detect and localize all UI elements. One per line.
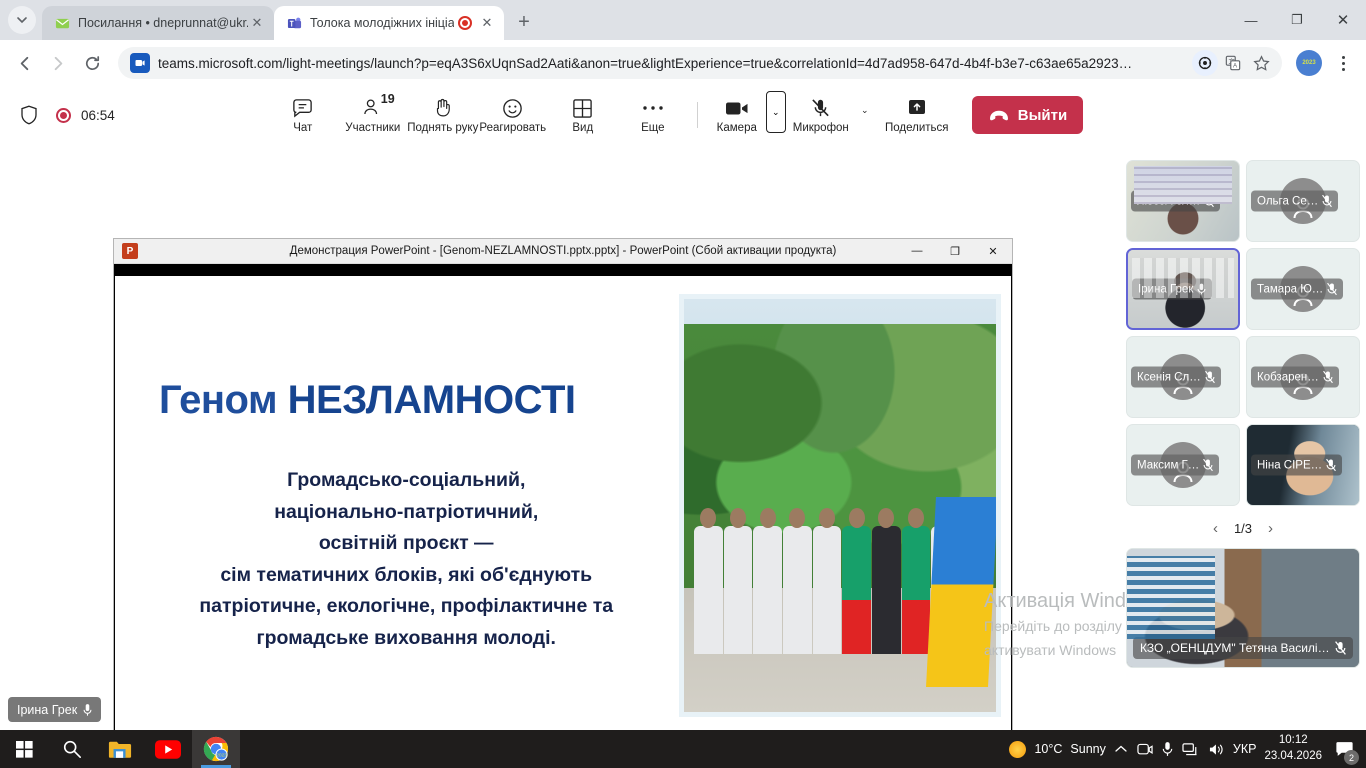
participant-tile[interactable]: Ксенія Сл… bbox=[1126, 336, 1240, 418]
self-name-label: Ірина Грек bbox=[17, 703, 77, 717]
windows-start-icon[interactable] bbox=[0, 730, 48, 768]
participant-name-badge: КЗО „ОЕНЦДУМ" Тетяна Василі… bbox=[1133, 637, 1353, 659]
new-tab-button[interactable]: + bbox=[510, 8, 538, 36]
toolbar-chat-button[interactable]: Чат bbox=[269, 89, 337, 141]
notification-icon[interactable]: 2 bbox=[1330, 734, 1358, 764]
leave-meeting-button[interactable]: Выйти bbox=[972, 96, 1083, 134]
toolbar-label: Чат bbox=[293, 122, 312, 134]
browser-tab-1[interactable]: Посилання • dneprunnat@ukr. ✕ bbox=[42, 6, 274, 40]
notification-count: 2 bbox=[1344, 750, 1359, 765]
toolbar-label: Камера bbox=[717, 122, 757, 134]
toolbar-reactions-button[interactable]: Реагировать bbox=[479, 89, 547, 141]
slide-body-line: Громадсько-соціальний, bbox=[159, 465, 653, 497]
page-indicator: 1/3 bbox=[1234, 521, 1252, 536]
participant-name-badge: Ксенія Сл… bbox=[1131, 367, 1221, 388]
tray-icons bbox=[1114, 741, 1225, 757]
participant-tile[interactable]: Ольга Се… bbox=[1246, 160, 1360, 242]
slide-body-line: громадське виховання молоді. bbox=[159, 623, 653, 655]
toolbar-label: Еще bbox=[641, 122, 664, 134]
slide-image-area bbox=[679, 276, 1011, 735]
tab-title: Толока молодіжних ініціат bbox=[310, 16, 454, 30]
participant-name: Ірина Грек bbox=[1138, 283, 1193, 295]
toolbar-share-button[interactable]: Поделиться bbox=[878, 89, 956, 141]
maximize-button[interactable]: ❐ bbox=[1274, 0, 1320, 40]
browser-menu-button[interactable] bbox=[1328, 48, 1358, 78]
browser-tab-2[interactable]: Толока молодіжних ініціат ✕ bbox=[274, 6, 504, 40]
translate-icon[interactable]: 文A bbox=[1220, 50, 1246, 76]
participant-tile[interactable]: Тамара Ю… bbox=[1246, 248, 1360, 330]
toolbar-camera-button[interactable]: Камера bbox=[708, 89, 766, 141]
mic-muted-icon bbox=[1323, 371, 1333, 384]
next-page-chevron-right-icon[interactable]: › bbox=[1268, 520, 1273, 537]
raise-hand-icon bbox=[432, 96, 454, 120]
weather-widget[interactable]: 10°C Sunny bbox=[1009, 741, 1105, 758]
volume-icon[interactable] bbox=[1208, 742, 1225, 757]
toolbar-view-button[interactable]: Вид bbox=[549, 89, 617, 141]
participant-name: Ольга Се… bbox=[1257, 195, 1318, 207]
mic-icon bbox=[1197, 283, 1206, 296]
slide-body-line: освітній проєкт — bbox=[159, 528, 653, 560]
close-window-button[interactable]: ✕ bbox=[1320, 0, 1366, 40]
participant-tile[interactable]: Ніна СІРЕ… bbox=[1246, 424, 1360, 506]
mic-muted-icon bbox=[1327, 283, 1337, 296]
chrome-browser-window: Посилання • dneprunnat@ukr. ✕ Толока мол… bbox=[0, 0, 1366, 730]
url-text: teams.microsoft.com/light-meetings/launc… bbox=[158, 56, 1184, 71]
participant-tile-active-speaker[interactable]: Ірина Грек bbox=[1126, 248, 1240, 330]
lens-icon[interactable] bbox=[1192, 50, 1218, 76]
share-up-icon bbox=[906, 96, 928, 120]
mic-muted-icon bbox=[1322, 195, 1332, 208]
mic-muted-icon bbox=[1326, 459, 1336, 472]
participant-name-badge: Ольга Се… bbox=[1251, 191, 1338, 212]
clock-date: 23.04.2026 bbox=[1264, 749, 1322, 765]
windows-taskbar: 2023 10°C Sunny УКР bbox=[0, 730, 1366, 768]
participant-name: КЗО „ОЕНЦДУМ" Тетяна Василі… bbox=[1140, 641, 1330, 655]
address-bar[interactable]: teams.microsoft.com/light-meetings/launc… bbox=[118, 47, 1282, 79]
youtube-icon[interactable] bbox=[144, 730, 192, 768]
more-dots-icon bbox=[642, 96, 664, 120]
chrome-icon[interactable]: 2023 bbox=[192, 730, 240, 768]
profile-avatar[interactable]: 2023 bbox=[1296, 50, 1322, 76]
browser-toolbar: teams.microsoft.com/light-meetings/launc… bbox=[0, 40, 1366, 86]
participants-count-badge: 19 bbox=[381, 92, 395, 106]
slide-body-line: національно-патріотичний, bbox=[159, 497, 653, 529]
participant-tile[interactable]: Максим Г… bbox=[1126, 424, 1240, 506]
participant-name-badge: Тамара Ю… bbox=[1251, 279, 1343, 300]
roster-pager: ‹ 1/3 › bbox=[1126, 512, 1360, 544]
slide-body: Громадсько-соціальний, національно-патрі… bbox=[159, 465, 653, 654]
teams-icon bbox=[130, 53, 150, 73]
camera-icon bbox=[725, 96, 749, 120]
mic-tray-icon[interactable] bbox=[1162, 741, 1173, 757]
search-icon[interactable] bbox=[48, 730, 96, 768]
teams-tray-icon[interactable] bbox=[1137, 742, 1153, 757]
view-grid-icon bbox=[572, 96, 593, 120]
language-indicator[interactable]: УКР bbox=[1233, 742, 1257, 756]
slide-title-part2: НЕЗЛАМНОСТІ bbox=[288, 378, 576, 422]
minimize-button[interactable]: — bbox=[1228, 0, 1274, 40]
participant-name-badge: Люссі Гол… bbox=[1131, 191, 1220, 212]
back-button[interactable] bbox=[8, 47, 40, 79]
toolbar-raise-hand-button[interactable]: Поднять руку bbox=[409, 89, 477, 141]
spotlight-participant-tile[interactable]: КЗО „ОЕНЦДУМ" Тетяна Василі… bbox=[1126, 548, 1360, 668]
slide-body-line: сім тематичних блоків, які об'єднують bbox=[159, 560, 653, 592]
toolbar-label: Реагировать bbox=[479, 122, 546, 134]
roster-grid: Люссі Гол… Ольга Се… bbox=[1126, 160, 1360, 506]
slide-body-line: патріотичне, екологічне, профілактичне т… bbox=[159, 591, 653, 623]
chevron-up-icon[interactable] bbox=[1114, 742, 1128, 756]
mic-muted-icon bbox=[810, 96, 831, 120]
svg-text:2023: 2023 bbox=[216, 752, 227, 757]
participant-name-badge: Кобзарен… bbox=[1251, 367, 1339, 388]
participant-name-badge: Максим Г… bbox=[1131, 455, 1219, 476]
meeting-stage: Активація Windows Перейдіть до розділу "… bbox=[0, 144, 1366, 730]
mic-muted-icon bbox=[1205, 371, 1215, 384]
reactions-icon bbox=[501, 96, 524, 120]
chat-icon bbox=[291, 96, 314, 120]
participant-name: Ксенія Сл… bbox=[1137, 371, 1201, 383]
reload-button[interactable] bbox=[76, 47, 108, 79]
toolbar-label: Вид bbox=[572, 122, 593, 134]
participant-name-badge: Ніна СІРЕ… bbox=[1251, 455, 1342, 476]
browser-tabstrip: Посилання • dneprunnat@ukr. ✕ Толока мол… bbox=[0, 0, 1366, 40]
close-icon[interactable]: ✕ bbox=[248, 14, 266, 32]
toolbar-mic-button[interactable]: Микрофон bbox=[788, 89, 854, 141]
sun-icon bbox=[1009, 741, 1026, 758]
mic-options-chevron-down-icon[interactable]: ⌄ bbox=[854, 89, 876, 131]
camera-options-chevron-down-icon[interactable]: ⌄ bbox=[766, 91, 786, 133]
participant-tile[interactable]: Кобзарен… bbox=[1246, 336, 1360, 418]
toolbar-divider bbox=[697, 102, 698, 128]
mail-icon bbox=[54, 15, 70, 31]
clock-time: 10:12 bbox=[1264, 733, 1322, 749]
shared-powerpoint-window[interactable]: P Демонстрация PowerPoint - [Genom-NEZLA… bbox=[113, 238, 1013, 768]
toolbar-label: Участники bbox=[345, 122, 400, 134]
teams-meeting-page: 06:54 Чат Участники 19 bbox=[0, 86, 1366, 730]
mic-muted-icon bbox=[1204, 195, 1214, 208]
taskbar-tray: 10°C Sunny УКР 10:12 23.04.2026 bbox=[1009, 733, 1366, 764]
forward-button[interactable] bbox=[42, 47, 74, 79]
file-explorer-icon[interactable] bbox=[96, 730, 144, 768]
toolbar-label: Поднять руку bbox=[407, 122, 478, 134]
participant-name: Тамара Ю… bbox=[1257, 283, 1323, 295]
powerpoint-titlebar: P Демонстрация PowerPoint - [Genom-NEZLA… bbox=[114, 239, 1012, 264]
participant-tile[interactable]: Люссі Гол… bbox=[1126, 160, 1240, 242]
meeting-toolbar-center: Чат Участники 19 Поднять руку bbox=[0, 86, 1366, 144]
toolbar-label: Поделиться bbox=[885, 122, 949, 134]
network-icon[interactable] bbox=[1182, 742, 1199, 757]
powerpoint-caption: Демонстрация PowerPoint - [Genom-NEZLAMN… bbox=[114, 245, 1012, 257]
weather-condition: Sunny bbox=[1070, 742, 1105, 756]
mic-icon bbox=[83, 703, 92, 717]
participant-name: Максим Г… bbox=[1137, 459, 1199, 471]
clock[interactable]: 10:12 23.04.2026 bbox=[1264, 733, 1322, 764]
slide-title: Геном НЕЗЛАМНОСТІ bbox=[159, 378, 653, 423]
toolbar-more-button[interactable]: Еще bbox=[619, 89, 687, 141]
toolbar-participants-button[interactable]: Участники 19 bbox=[339, 89, 407, 141]
bookmark-star-icon[interactable] bbox=[1248, 50, 1274, 76]
participant-name: Люссі Гол… bbox=[1137, 195, 1200, 207]
participant-name: Кобзарен… bbox=[1257, 371, 1319, 383]
slide-title-part1: Геном bbox=[159, 378, 288, 422]
omnibox-actions: 文A bbox=[1192, 50, 1274, 76]
tab-search-button[interactable] bbox=[8, 6, 36, 34]
teams-icon bbox=[286, 15, 302, 31]
camera-control-group: Камера ⌄ bbox=[708, 89, 786, 141]
slide-text-area: Геном НЕЗЛАМНОСТІ Громадсько-соціальний,… bbox=[115, 276, 679, 735]
slide-1: Геном НЕЗЛАМНОСТІ Громадсько-соціальний,… bbox=[115, 276, 1011, 735]
participants-roster: Люссі Гол… Ольга Се… bbox=[1120, 144, 1366, 730]
recording-indicator-icon[interactable] bbox=[458, 16, 472, 30]
leave-label: Выйти bbox=[1018, 107, 1067, 124]
tab-title: Посилання • dneprunnat@ukr. bbox=[78, 16, 248, 30]
weather-temp: 10°C bbox=[1034, 742, 1062, 756]
self-name-badge: Ірина Грек bbox=[8, 697, 101, 722]
toolbar-label: Микрофон bbox=[793, 122, 849, 134]
meeting-toolbar: 06:54 Чат Участники 19 bbox=[0, 86, 1366, 144]
slideshow-canvas[interactable]: Геном НЕЗЛАМНОСТІ Громадсько-соціальний,… bbox=[114, 264, 1012, 747]
mic-control-group: Микрофон ⌄ bbox=[788, 89, 876, 141]
mic-muted-icon bbox=[1203, 459, 1213, 472]
participant-name: Ніна СІРЕ… bbox=[1257, 459, 1322, 471]
browser-window-controls: — ❐ ✕ bbox=[1228, 0, 1366, 40]
participant-name-badge: Ірина Грек bbox=[1132, 279, 1212, 300]
slide-photo bbox=[679, 294, 1001, 717]
hangup-icon bbox=[988, 109, 1010, 122]
mic-muted-icon bbox=[1335, 641, 1346, 655]
prev-page-chevron-left-icon[interactable]: ‹ bbox=[1213, 520, 1218, 537]
close-icon[interactable]: ✕ bbox=[478, 14, 496, 32]
